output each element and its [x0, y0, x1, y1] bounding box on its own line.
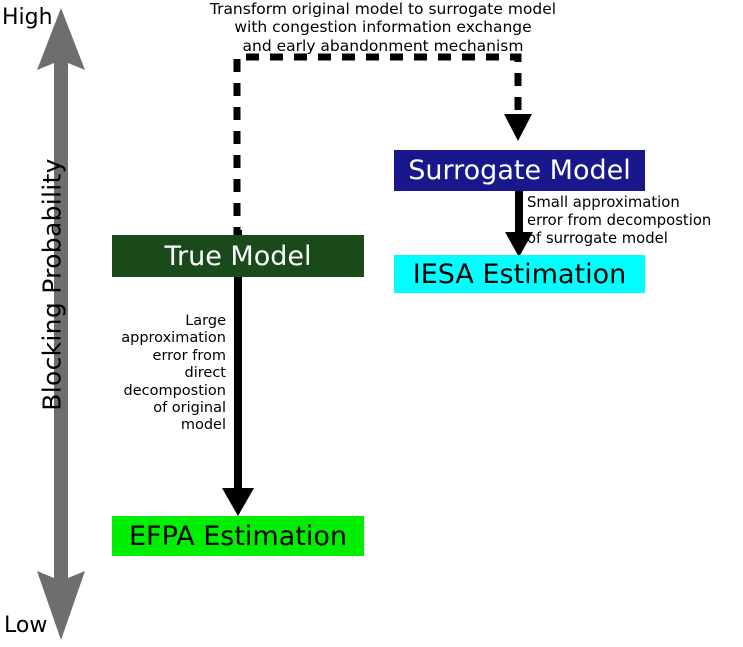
transform-caption-line-3: and early abandonment mechanism	[183, 37, 583, 55]
axis-high-label: High	[2, 5, 53, 30]
node-true-model-label: True Model	[165, 243, 312, 270]
axis-title-blocking-probability: Blocking Probability	[38, 155, 67, 415]
large-error-caption-line-1: Large	[94, 313, 226, 330]
transform-arrowhead-icon	[504, 114, 532, 141]
small-error-caption-line-3: of surrogate model	[527, 230, 743, 248]
diagram-canvas: High Low Blocking Probability Transform …	[0, 0, 743, 647]
large-error-caption-line-7: model	[94, 417, 226, 434]
small-error-caption-line-1: Small approximation	[527, 194, 743, 212]
transform-caption: Transform original model to surrogate mo…	[183, 0, 583, 55]
node-iesa-estimation-label: IESA Estimation	[413, 261, 627, 288]
node-true-model[interactable]: True Model	[112, 235, 364, 277]
node-surrogate-model-label: Surrogate Model	[408, 157, 630, 184]
node-iesa-estimation[interactable]: IESA Estimation	[394, 255, 645, 293]
axis-low-label: Low	[4, 613, 47, 638]
transform-dashed-edge	[237, 57, 532, 240]
large-error-caption-line-5: decompostion	[94, 383, 226, 400]
large-error-caption-line-3: error from	[94, 348, 226, 365]
node-efpa-estimation[interactable]: EFPA Estimation	[112, 516, 364, 556]
large-error-caption: Large approximation error from direct de…	[94, 313, 226, 435]
large-error-caption-line-4: direct	[94, 365, 226, 382]
small-error-caption-line-2: error from decompostion	[527, 212, 743, 230]
transform-dashed-path	[237, 57, 518, 240]
transform-caption-line-2: with congestion information exchange	[183, 18, 583, 36]
small-error-caption: Small approximation error from decompost…	[527, 194, 743, 247]
large-error-arrowhead-icon	[222, 488, 254, 516]
large-error-caption-line-2: approximation	[94, 330, 226, 347]
transform-caption-line-1: Transform original model to surrogate mo…	[183, 0, 583, 18]
node-efpa-estimation-label: EFPA Estimation	[129, 523, 347, 550]
node-surrogate-model[interactable]: Surrogate Model	[394, 150, 645, 191]
large-error-caption-line-6: of original	[94, 400, 226, 417]
